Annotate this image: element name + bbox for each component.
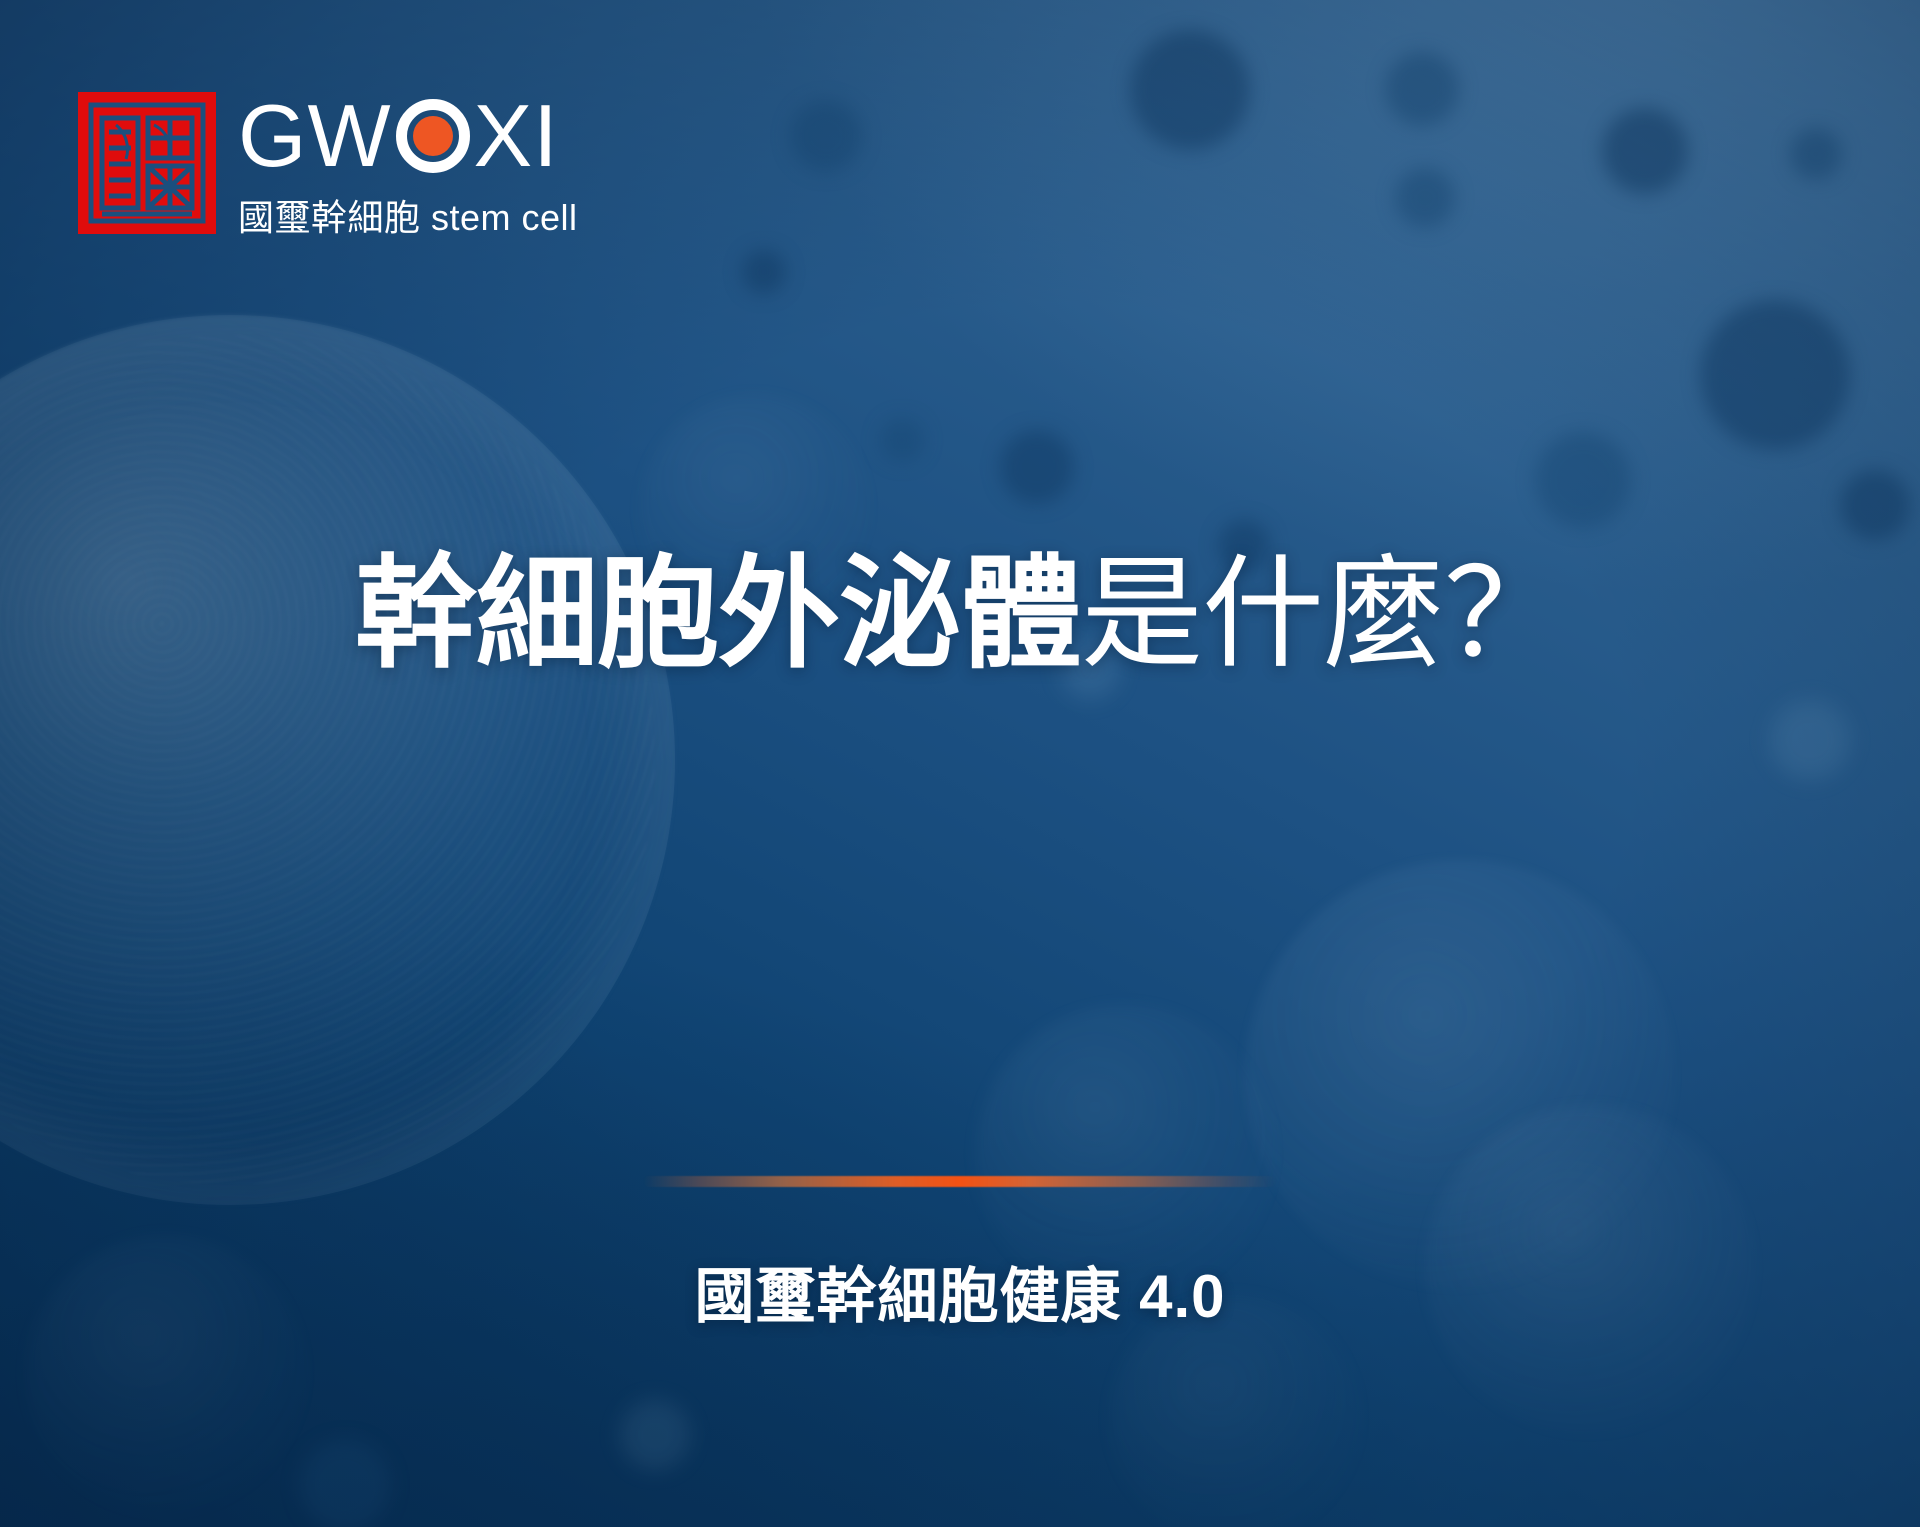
logo-tagline: 國璽幹細胞 stem cell (238, 189, 578, 241)
presentation-slide: GW XI 國璽幹細胞 stem cell 幹細胞外泌體是什麼？ 國璽幹細胞健康… (0, 0, 1920, 1527)
wordmark-o-icon (396, 99, 470, 173)
headline-emphasis: 幹細胞外泌體 (355, 546, 1081, 682)
divider-container (0, 1176, 1920, 1187)
gwoxi-seal-icon (78, 92, 216, 234)
accent-divider (643, 1176, 1277, 1187)
headline-question: 是什麼？ (1081, 546, 1565, 682)
logo-text-block: GW XI 國璽幹細胞 stem cell (238, 92, 578, 241)
gwoxi-wordmark: GW XI (238, 96, 578, 177)
gwoxi-logo[interactable]: GW XI 國璽幹細胞 stem cell (78, 92, 578, 241)
slide-subtitle: 國璽幹細胞健康 4.0 (0, 1248, 1920, 1335)
wordmark-left: GW (238, 96, 392, 177)
wordmark-o-accent-dot (413, 116, 453, 156)
wordmark-right: XI (474, 96, 559, 177)
slide-headline: 幹細胞外泌體是什麼？ (0, 543, 1920, 687)
